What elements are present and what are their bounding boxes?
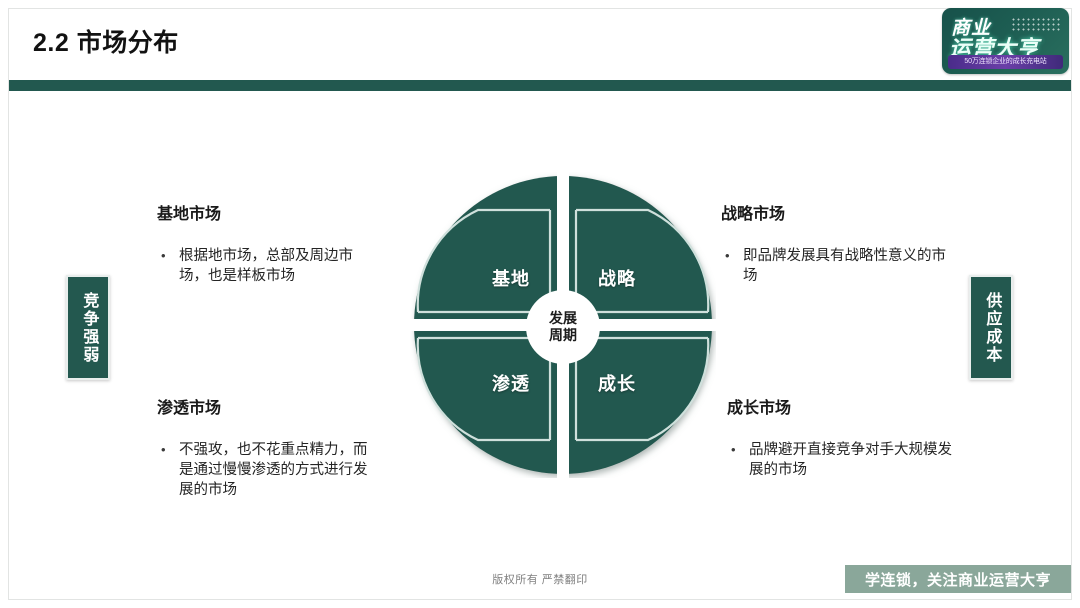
brand-logo: 商业 运营大亨 50万连锁企业的成长充电站 [942,8,1069,74]
block-body: 不强攻，也不花重点精力，而是通过慢慢渗透的方式进行发展的市场 [179,440,379,500]
block-body: 根据地市场，总部及周边市场，也是样板市场 [179,246,372,286]
bullet-marker: • [157,440,179,460]
text-block-growth-market: 成长市场 • 品牌避开直接竞争对手大规模发展的市场 [727,394,955,480]
text-block-base-market: 基地市场 • 根据地市场，总部及周边市场，也是样板市场 [157,200,372,286]
block-bullet-row: • 根据地市场，总部及周边市场，也是样板市场 [157,246,372,286]
market-quadrant-wheel: 基地 战略 渗透 成长 发展 周期 [410,172,716,478]
bullet-marker: • [157,246,179,266]
block-title: 渗透市场 [157,394,379,418]
text-block-penetration-market: 渗透市场 • 不强攻，也不花重点精力，而是通过慢慢渗透的方式进行发展的市场 [157,394,379,500]
wheel-label-penetrate: 渗透 [456,370,566,396]
bullet-marker: • [727,440,749,460]
text-block-strategy-market: 战略市场 • 即品牌发展具有战略性意义的市场 [721,200,946,286]
slide-canvas: 2.2 市场分布 商业 运营大亨 50万连锁企业的成长充电站 竞争强弱 供应成本… [0,0,1080,608]
axis-label-competition: 竞争强弱 [66,275,110,380]
wheel-center-hub: 发展 周期 [526,290,600,364]
block-bullet-row: • 即品牌发展具有战略性意义的市场 [721,246,946,286]
block-body: 即品牌发展具有战略性意义的市场 [743,246,946,286]
block-title: 基地市场 [157,200,372,224]
page-title: 2.2 市场分布 [33,23,179,59]
logo-ribbon-text: 50万连锁企业的成长充电站 [948,56,1063,66]
wheel-label-strategy: 战略 [562,265,672,291]
hub-line1: 发展 [549,310,577,328]
block-body: 品牌避开直接竞争对手大规模发展的市场 [749,440,955,480]
header-divider [9,80,1071,91]
block-title: 战略市场 [721,200,946,224]
wheel-label-base: 基地 [456,265,566,291]
bullet-marker: • [721,246,743,266]
logo-ribbon: 50万连锁企业的成长充电站 [948,55,1063,69]
block-bullet-row: • 品牌避开直接竞争对手大规模发展的市场 [727,440,955,480]
block-bullet-row: • 不强攻，也不花重点精力，而是通过慢慢渗透的方式进行发展的市场 [157,440,379,500]
hub-line2: 周期 [549,327,577,345]
block-title: 成长市场 [727,394,955,418]
axis-label-supply-cost: 供应成本 [969,275,1013,380]
logo-dot-pattern [1011,17,1061,32]
promo-banner: 学连锁，关注商业运营大亨 [845,565,1071,593]
wheel-label-growth: 成长 [562,370,672,396]
